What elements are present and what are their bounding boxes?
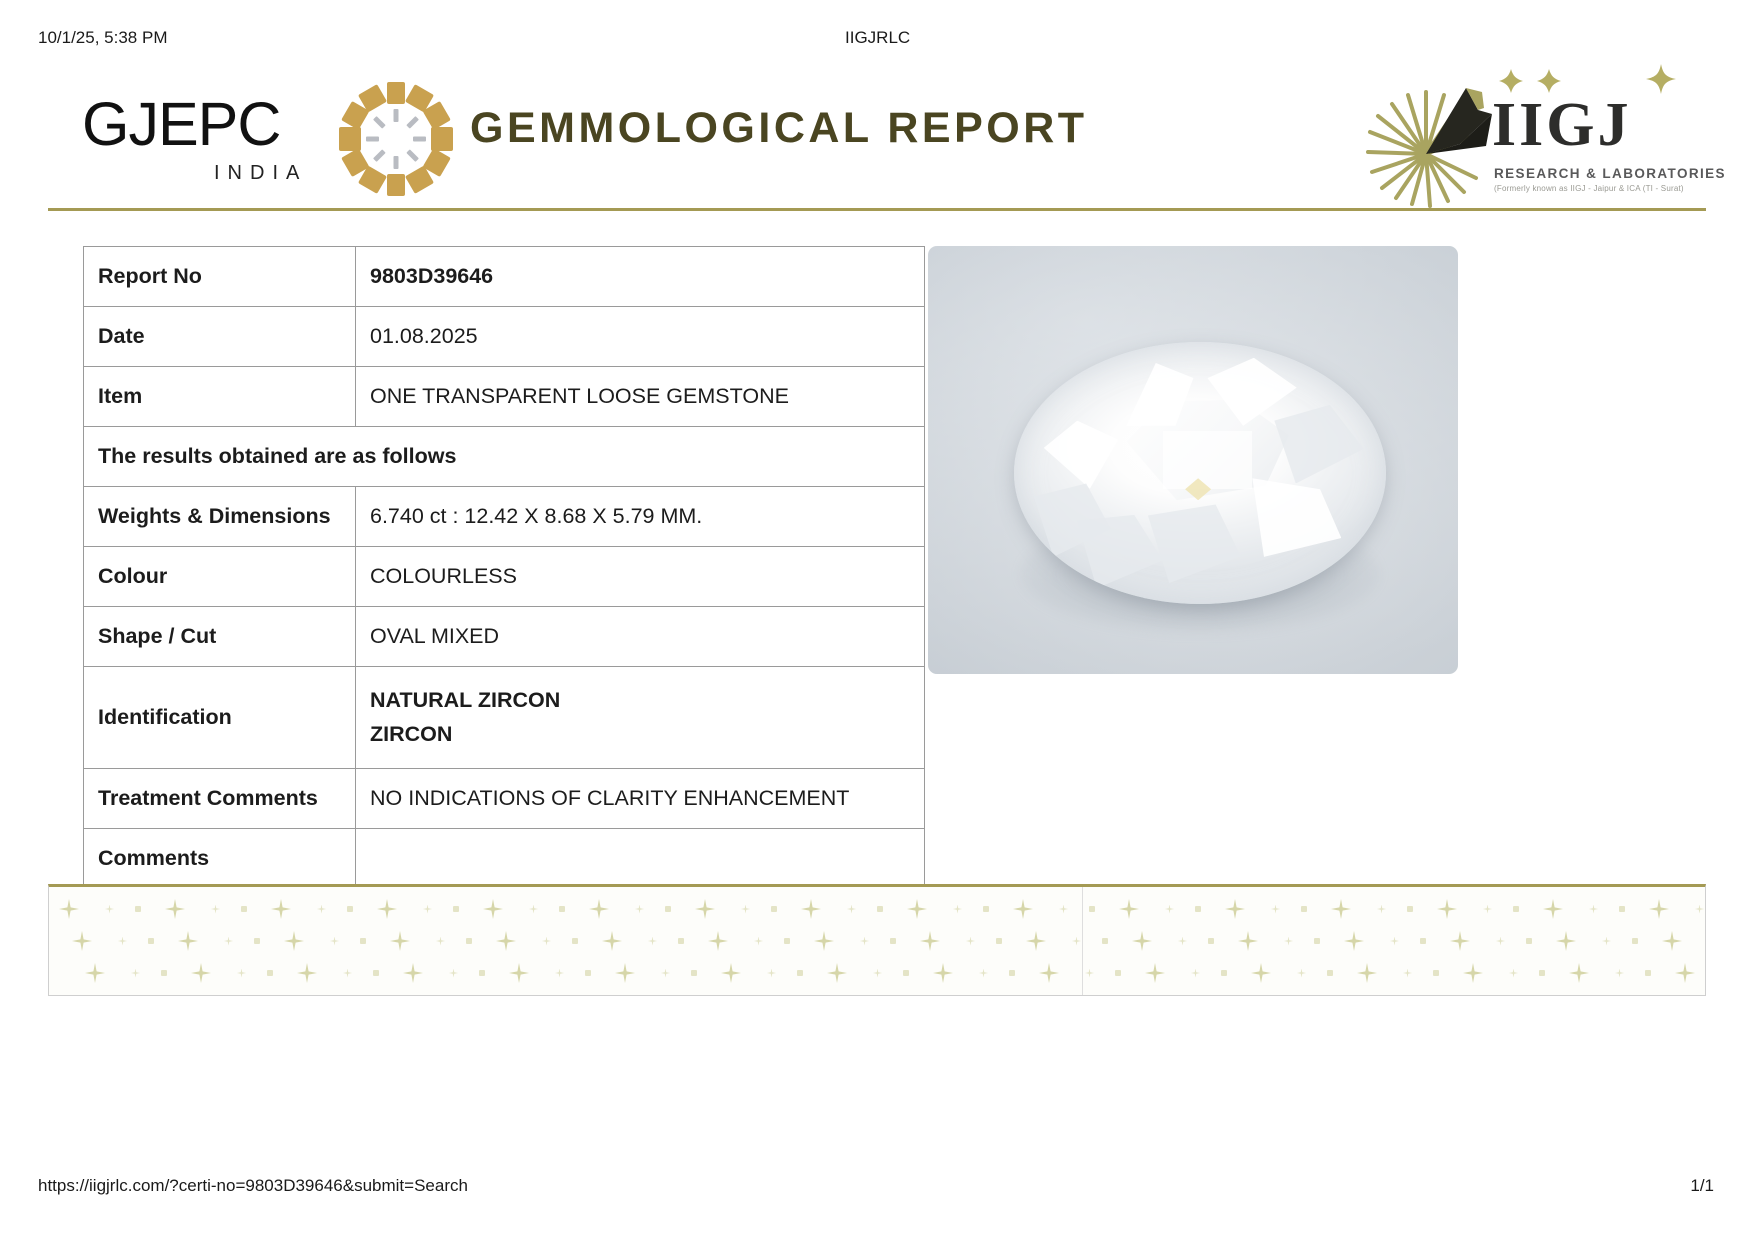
security-pattern-mark xyxy=(403,963,423,983)
security-pattern-mark xyxy=(1178,937,1187,946)
security-pattern-mark xyxy=(1433,970,1439,976)
security-pattern-mark xyxy=(814,931,834,951)
security-pattern-mark xyxy=(1314,938,1320,944)
security-pattern-mark xyxy=(72,931,92,951)
security-pattern-mark xyxy=(1539,970,1545,976)
security-pattern-mark xyxy=(135,906,141,912)
print-header: 10/1/25, 5:38 PM IIGJRLC xyxy=(0,28,1754,48)
security-pattern-mark xyxy=(85,963,105,983)
security-pattern-mark xyxy=(635,905,644,914)
security-pattern-mark xyxy=(1195,906,1201,912)
security-pattern xyxy=(49,887,1705,995)
security-pattern-mark xyxy=(271,899,291,919)
security-pattern-mark xyxy=(466,938,472,944)
security-pattern-mark xyxy=(1403,969,1412,978)
row-label-report-no: Report No xyxy=(84,247,356,307)
security-pattern-mark xyxy=(1437,899,1457,919)
sparkle-icon-1 xyxy=(1498,68,1524,94)
security-pattern-mark xyxy=(267,970,273,976)
security-pattern-mark xyxy=(615,963,635,983)
security-pattern-mark xyxy=(148,938,154,944)
security-pattern-mark xyxy=(1331,899,1351,919)
row-label-comments: Comments xyxy=(84,829,356,889)
iigj-logo: IIGJ RESEARCH & LABORATORIES (Formerly k… xyxy=(1366,62,1696,207)
security-pattern-mark xyxy=(165,899,185,919)
security-pattern-mark xyxy=(1089,906,1095,912)
security-pattern-mark xyxy=(1115,970,1121,976)
print-timestamp: 10/1/25, 5:38 PM xyxy=(38,28,167,48)
sunburst-ring-icon xyxy=(335,78,457,200)
identification-line-1: NATURAL ZIRCON xyxy=(370,684,910,717)
row-label-date: Date xyxy=(84,307,356,367)
security-pattern-mark xyxy=(1357,963,1377,983)
security-pattern-mark xyxy=(542,937,551,946)
security-pattern-mark xyxy=(483,899,503,919)
security-pattern-mark xyxy=(784,938,790,944)
security-pattern-mark xyxy=(847,905,856,914)
security-pattern-mark xyxy=(559,906,565,912)
security-pattern-mark xyxy=(953,905,962,914)
security-pattern-mark xyxy=(1221,970,1227,976)
security-pattern-mark xyxy=(1619,906,1625,912)
security-pattern-mark xyxy=(1526,938,1532,944)
table-row: Shape / Cut OVAL MIXED xyxy=(84,607,925,667)
security-pattern-mark xyxy=(330,937,339,946)
security-pattern-mark xyxy=(827,963,847,983)
row-value-treatment-comments: NO INDICATIONS OF CLARITY ENHANCEMENT xyxy=(356,769,925,829)
security-pattern-mark xyxy=(1695,905,1704,914)
source-url: https://iigjrlc.com/?certi-no=9803D39646… xyxy=(38,1176,468,1196)
security-pattern-mark xyxy=(317,905,326,914)
report-details-table: Report No 9803D39646 Date 01.08.2025 Ite… xyxy=(83,246,925,889)
row-value-report-no: 9803D39646 xyxy=(356,247,925,307)
security-pattern-mark xyxy=(708,931,728,951)
security-pattern-mark xyxy=(1543,899,1563,919)
security-pattern-mark xyxy=(1420,938,1426,944)
security-pattern-mark xyxy=(1513,906,1519,912)
security-pattern-band xyxy=(48,884,1706,996)
security-pattern-mark xyxy=(1085,969,1094,978)
security-pattern-mark xyxy=(721,963,741,983)
security-pattern-mark xyxy=(555,969,564,978)
security-pattern-mark xyxy=(1675,963,1695,983)
security-pattern-mark xyxy=(589,899,609,919)
row-value-date: 01.08.2025 xyxy=(356,307,925,367)
security-pattern-mark xyxy=(983,906,989,912)
iigj-subtitle-secondary: (Formerly known as IIGJ - Jaipur & ICA (… xyxy=(1494,184,1684,193)
starburst-icon xyxy=(1366,68,1506,208)
row-value-shape-cut: OVAL MIXED xyxy=(356,607,925,667)
sparkle-icon-3 xyxy=(1646,64,1676,94)
security-pattern-mark xyxy=(996,938,1002,944)
security-pattern-mark xyxy=(1225,899,1245,919)
security-pattern-mark xyxy=(695,899,715,919)
table-row: Comments xyxy=(84,829,925,889)
security-pattern-mark xyxy=(648,937,657,946)
row-value-item: ONE TRANSPARENT LOOSE GEMSTONE xyxy=(356,367,925,427)
security-pattern-mark xyxy=(1271,905,1280,914)
security-pattern-mark xyxy=(907,899,927,919)
security-pattern-mark xyxy=(1645,970,1651,976)
security-pattern-mark xyxy=(343,969,352,978)
security-pattern-mark xyxy=(224,937,233,946)
security-pattern-mark xyxy=(297,963,317,983)
security-pattern-mark xyxy=(1301,906,1307,912)
security-pattern-mark xyxy=(661,969,670,978)
security-pattern-mark xyxy=(1662,931,1682,951)
gemmological-report-page: 10/1/25, 5:38 PM IIGJRLC GJEPC INDIA xyxy=(0,0,1754,1240)
row-label-results-heading: The results obtained are as follows xyxy=(84,427,925,487)
security-pattern-mark xyxy=(479,970,485,976)
security-pattern-mark xyxy=(1119,899,1139,919)
security-pattern-mark xyxy=(1602,937,1611,946)
security-pattern-mark xyxy=(496,931,516,951)
security-pattern-mark xyxy=(1509,969,1518,978)
security-pattern-mark xyxy=(118,937,127,946)
security-pattern-mark xyxy=(1569,963,1589,983)
security-pattern-mark xyxy=(572,938,578,944)
security-pattern-mark xyxy=(390,931,410,951)
row-label-identification: Identification xyxy=(84,667,356,769)
security-pattern-mark xyxy=(1039,963,1059,983)
security-pattern-mark xyxy=(1463,963,1483,983)
gjepc-logo: GJEPC INDIA xyxy=(82,80,462,190)
gemstone-oval xyxy=(1014,342,1386,604)
security-pattern-mark xyxy=(1297,969,1306,978)
security-pattern-mark xyxy=(1165,905,1174,914)
table-row: Colour COLOURLESS xyxy=(84,547,925,607)
security-pattern-mark xyxy=(211,905,220,914)
security-pattern-mark xyxy=(347,906,353,912)
security-pattern-mark xyxy=(903,970,909,976)
security-pattern-mark xyxy=(1284,937,1293,946)
security-pattern-mark xyxy=(873,969,882,978)
security-pattern-mark xyxy=(1390,937,1399,946)
report-table-body: Report No 9803D39646 Date 01.08.2025 Ite… xyxy=(84,247,925,889)
security-pattern-mark xyxy=(1377,905,1386,914)
row-value-comments xyxy=(356,829,925,889)
print-footer: https://iigjrlc.com/?certi-no=9803D39646… xyxy=(0,1176,1754,1196)
security-pattern-mark xyxy=(1072,937,1081,946)
row-value-weights-dimensions: 6.740 ct : 12.42 X 8.68 X 5.79 MM. xyxy=(356,487,925,547)
security-pattern-mark xyxy=(509,963,529,983)
identification-line-2: ZIRCON xyxy=(370,718,910,751)
report-masthead: GJEPC INDIA xyxy=(48,62,1706,202)
security-pattern-mark xyxy=(602,931,622,951)
security-pattern-mark xyxy=(1059,905,1068,914)
security-pattern-mark xyxy=(1483,905,1492,914)
security-pattern-mark xyxy=(436,937,445,946)
security-pattern-mark xyxy=(1327,970,1333,976)
security-pattern-mark xyxy=(1496,937,1505,946)
gjepc-country-label: INDIA xyxy=(214,162,307,185)
security-pattern-mark xyxy=(979,969,988,978)
security-pattern-mark xyxy=(1407,906,1413,912)
table-row: Item ONE TRANSPARENT LOOSE GEMSTONE xyxy=(84,367,925,427)
security-pattern-mark xyxy=(59,899,79,919)
table-row-results-heading: The results obtained are as follows xyxy=(84,427,925,487)
page-number: 1/1 xyxy=(1690,1176,1714,1196)
row-label-shape-cut: Shape / Cut xyxy=(84,607,356,667)
security-pattern-mark xyxy=(1589,905,1598,914)
row-value-colour: COLOURLESS xyxy=(356,547,925,607)
security-pattern-mark xyxy=(691,970,697,976)
security-pattern-mark xyxy=(920,931,940,951)
security-pattern-mark xyxy=(360,938,366,944)
page-title: GEMMOLOGICAL REPORT xyxy=(470,104,1088,153)
security-pattern-mark xyxy=(529,905,538,914)
gemstone-facets xyxy=(1014,342,1386,604)
security-band-divider xyxy=(1082,887,1083,995)
security-pattern-mark xyxy=(284,931,304,951)
security-pattern-mark xyxy=(1191,969,1200,978)
security-pattern-mark xyxy=(241,906,247,912)
security-pattern-mark xyxy=(1450,931,1470,951)
security-pattern-mark xyxy=(801,899,821,919)
security-pattern-mark xyxy=(767,969,776,978)
security-pattern-mark xyxy=(771,906,777,912)
row-value-identification: NATURAL ZIRCON ZIRCON xyxy=(356,667,925,769)
security-pattern-mark xyxy=(678,938,684,944)
security-pattern-mark xyxy=(423,905,432,914)
iigj-subtitle: RESEARCH & LABORATORIES xyxy=(1494,166,1726,181)
table-row: Treatment Comments NO INDICATIONS OF CLA… xyxy=(84,769,925,829)
security-pattern-mark xyxy=(1013,899,1033,919)
table-row: Identification NATURAL ZIRCON ZIRCON xyxy=(84,667,925,769)
table-row: Report No 9803D39646 xyxy=(84,247,925,307)
security-pattern-mark xyxy=(797,970,803,976)
table-row: Date 01.08.2025 xyxy=(84,307,925,367)
row-label-treatment-comments: Treatment Comments xyxy=(84,769,356,829)
security-pattern-mark xyxy=(1102,938,1108,944)
security-pattern-mark xyxy=(933,963,953,983)
security-pattern-mark xyxy=(178,931,198,951)
security-pattern-mark xyxy=(1208,938,1214,944)
security-pattern-mark xyxy=(890,938,896,944)
security-pattern-mark xyxy=(1132,931,1152,951)
row-label-weights-dimensions: Weights & Dimensions xyxy=(84,487,356,547)
security-pattern-mark xyxy=(754,937,763,946)
iigj-wordmark: IIGJ xyxy=(1492,94,1631,156)
security-pattern-mark xyxy=(453,906,459,912)
security-pattern-mark xyxy=(1649,899,1669,919)
security-pattern-mark xyxy=(665,906,671,912)
row-label-item: Item xyxy=(84,367,356,427)
security-pattern-mark xyxy=(105,905,114,914)
sparkle-icon-2 xyxy=(1536,68,1562,94)
security-pattern-mark xyxy=(254,938,260,944)
security-pattern-mark xyxy=(237,969,246,978)
row-label-colour: Colour xyxy=(84,547,356,607)
security-pattern-mark xyxy=(741,905,750,914)
security-pattern-mark xyxy=(161,970,167,976)
security-pattern-mark xyxy=(1251,963,1271,983)
gjepc-wordmark: GJEPC xyxy=(82,94,280,155)
security-pattern-mark xyxy=(377,899,397,919)
security-pattern-mark xyxy=(1009,970,1015,976)
security-pattern-mark xyxy=(966,937,975,946)
masthead-divider xyxy=(48,208,1706,211)
security-pattern-mark xyxy=(191,963,211,983)
security-pattern-mark xyxy=(1344,931,1364,951)
security-pattern-mark xyxy=(1615,969,1624,978)
security-pattern-mark xyxy=(1145,963,1165,983)
security-pattern-mark xyxy=(373,970,379,976)
security-pattern-mark xyxy=(877,906,883,912)
security-pattern-mark xyxy=(1026,931,1046,951)
gemstone-photo xyxy=(928,246,1458,674)
security-pattern-mark xyxy=(860,937,869,946)
print-doc-title: IIGJRLC xyxy=(845,28,910,48)
security-pattern-mark xyxy=(1238,931,1258,951)
table-row: Weights & Dimensions 6.740 ct : 12.42 X … xyxy=(84,487,925,547)
security-pattern-mark xyxy=(1632,938,1638,944)
security-pattern-mark xyxy=(585,970,591,976)
security-pattern-mark xyxy=(449,969,458,978)
security-pattern-mark xyxy=(1556,931,1576,951)
security-pattern-mark xyxy=(131,969,140,978)
